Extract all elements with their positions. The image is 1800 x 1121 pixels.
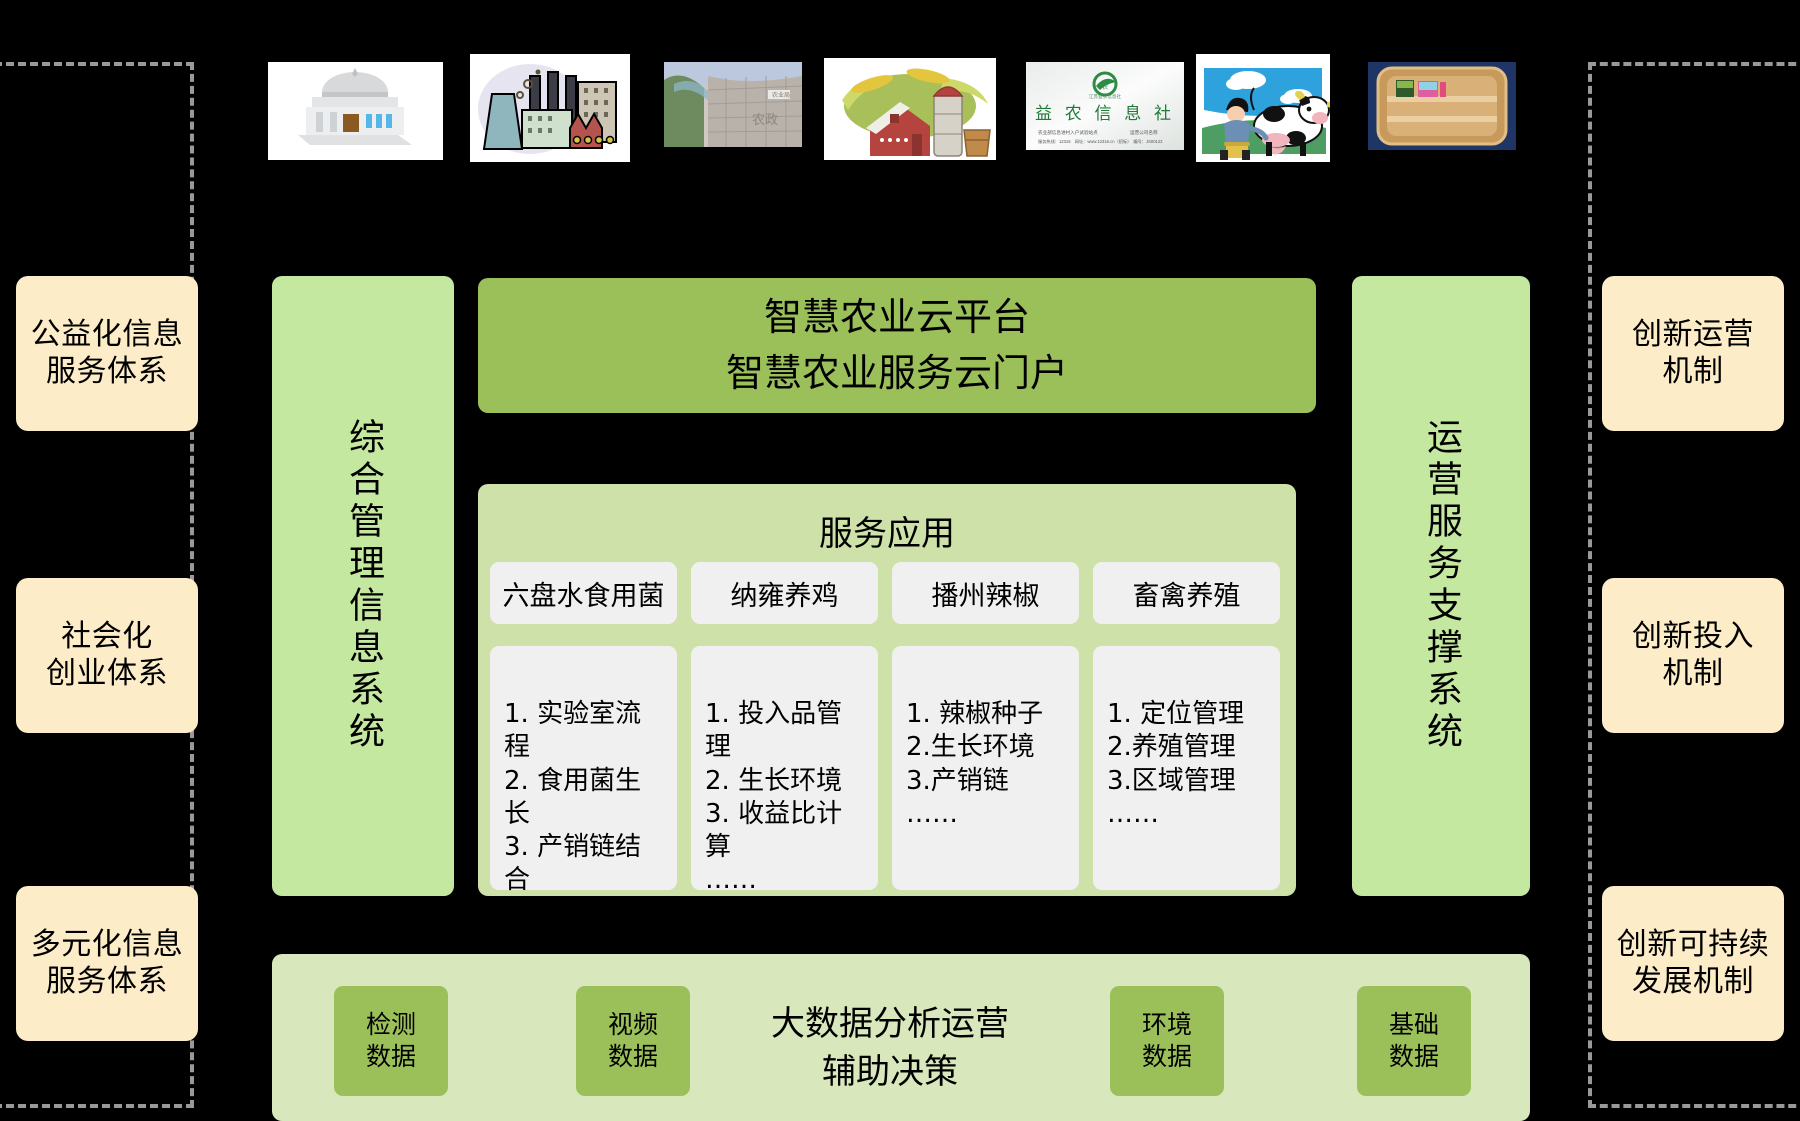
platform-title-line2: 智慧农业服务云门户: [726, 346, 1068, 401]
thumbnail-farm: [824, 58, 996, 160]
thumbnail-factory: [470, 54, 630, 162]
big-data-title-line2: 辅助决策: [700, 1048, 1080, 1096]
service-card-header-2-label: 播州辣椒: [932, 574, 1040, 613]
service-card-header-0[interactable]: 六盘水食用菌: [490, 562, 677, 624]
big-data-title-line1: 大数据分析运营: [700, 1000, 1080, 1048]
big-data-chip-video[interactable]: 视频 数据: [576, 986, 690, 1096]
thumbnail-shelf: [1368, 62, 1516, 150]
big-data-chip-basic-label: 基础 数据: [1389, 1009, 1439, 1074]
service-card-header-1[interactable]: 纳雍养鸡: [691, 562, 878, 624]
service-card-header-2[interactable]: 播州辣椒: [892, 562, 1079, 624]
service-card-body-0: 1. 实验室流程 2. 食用菌生长 3. 产销链结合 ……: [490, 646, 677, 890]
panel-operation-service-support-system-label: 运营服务支撑系统: [1423, 418, 1459, 754]
left-pillar-public-welfare-label: 公益化信息 服务体系: [31, 317, 184, 390]
thumbnail-government-building: [268, 62, 443, 160]
svg-text:农业局: 农业局: [772, 91, 790, 99]
left-pillar-public-welfare[interactable]: 公益化信息 服务体系: [16, 276, 198, 431]
panel-comprehensive-management-system[interactable]: 综合管理信息系统: [272, 276, 454, 896]
big-data-chip-basic[interactable]: 基础 数据: [1357, 986, 1471, 1096]
service-card-header-1-label: 纳雍养鸡: [731, 574, 839, 613]
svg-text:农业部信息进村入户试验站点: 农业部信息进村入户试验站点: [1038, 129, 1098, 136]
service-card-body-1: 1. 投入品管理 2. 生长环境 3. 收益比计算 ……: [691, 646, 878, 890]
left-pillar-social-entrepreneur-label: 社会化 创业体系: [46, 619, 168, 692]
platform-title-line1: 智慧农业云平台: [764, 290, 1030, 345]
svg-text:益 农 信 息 社: 益 农 信 息 社: [1035, 104, 1175, 123]
platform-header[interactable]: 智慧农业云平台 智慧农业服务云门户: [478, 278, 1316, 413]
service-card-body-3: 1. 定位管理 2.养殖管理 3.区域管理 ……: [1093, 646, 1280, 890]
right-pillar-innovative-investment[interactable]: 创新投入 机制: [1602, 578, 1784, 733]
right-pillar-innovative-operation[interactable]: 创新运营 机制: [1602, 276, 1784, 431]
thumbnail-yinong-info-station: 农 江苏益农信息社 益 农 信 息 社 农业部信息进村入户试验站点 运营公司名称…: [1026, 62, 1184, 150]
service-card-body-2: 1. 辣椒种子 2.生长环境 3.产销链 ……: [892, 646, 1079, 890]
right-pillar-innovative-sustainable[interactable]: 创新可持续 发展机制: [1602, 886, 1784, 1041]
big-data-title: 大数据分析运营 辅助决策: [700, 1000, 1080, 1097]
svg-text:农: 农: [1102, 83, 1108, 91]
svg-text:农政: 农政: [752, 112, 778, 127]
service-card-header-3[interactable]: 畜禽养殖: [1093, 562, 1280, 624]
svg-text:江苏益农信息社: 江苏益农信息社: [1089, 93, 1122, 100]
right-pillar-innovative-investment-label: 创新投入 机制: [1632, 619, 1754, 692]
big-data-chip-environment-label: 环境 数据: [1142, 1009, 1192, 1074]
big-data-chip-video-label: 视频 数据: [608, 1009, 658, 1074]
panel-comprehensive-management-system-label: 综合管理信息系统: [345, 418, 381, 754]
big-data-chip-environment[interactable]: 环境 数据: [1110, 986, 1224, 1096]
thumbnail-dairy-cow: [1196, 54, 1330, 162]
service-card-header-3-label: 畜禽养殖: [1133, 574, 1241, 613]
left-pillar-diversified-info[interactable]: 多元化信息 服务体系: [16, 886, 198, 1041]
big-data-chip-inspection[interactable]: 检测 数据: [334, 986, 448, 1096]
svg-text:服务热线：12316 网址：www.12316.cn（招标）: 服务热线：12316 网址：www.12316.cn（招标） 编号：JS0012…: [1038, 138, 1163, 145]
right-pillar-innovative-sustainable-label: 创新可持续 发展机制: [1617, 927, 1770, 1000]
service-card-header-0-label: 六盘水食用菌: [503, 574, 665, 613]
thumbnail-office-building: 农业局 农政: [664, 62, 802, 147]
big-data-chip-inspection-label: 检测 数据: [366, 1009, 416, 1074]
left-pillar-diversified-info-label: 多元化信息 服务体系: [31, 927, 184, 1000]
left-pillar-social-entrepreneur[interactable]: 社会化 创业体系: [16, 578, 198, 733]
right-pillar-innovative-operation-label: 创新运营 机制: [1632, 317, 1754, 390]
panel-operation-service-support-system[interactable]: 运营服务支撑系统: [1352, 276, 1530, 896]
svg-text:运营公司名称: 运营公司名称: [1130, 129, 1158, 136]
service-application-title: 服务应用: [478, 506, 1296, 555]
